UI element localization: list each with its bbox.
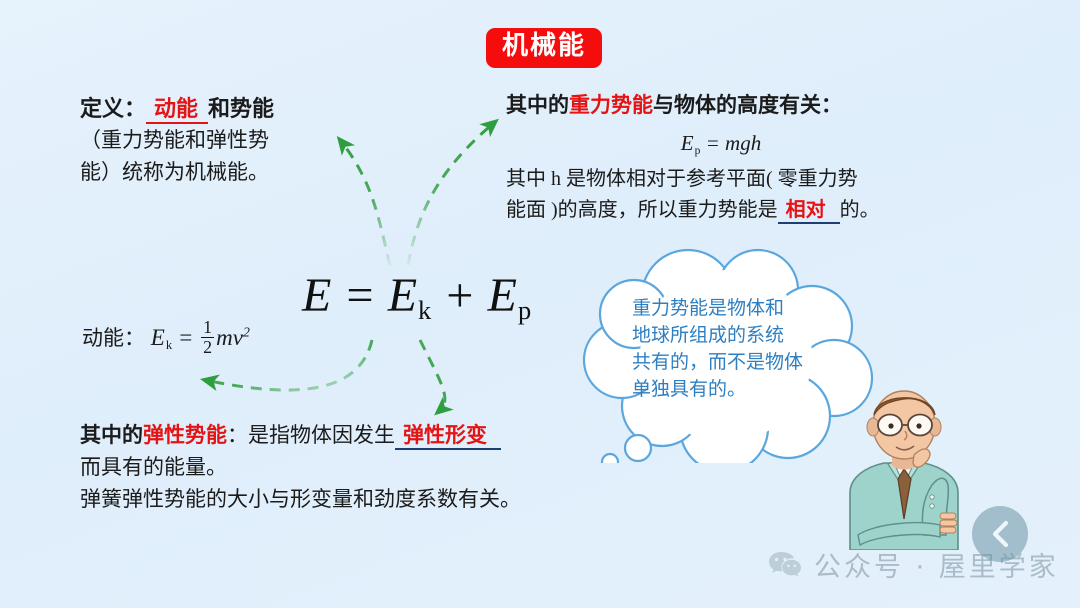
central-mechanical-energy-formula: E = Ek + Ep xyxy=(302,268,531,326)
kinetic-energy-block: 动能： Ek = 12mv2 xyxy=(82,318,250,357)
bubble-line2: 地球所组成的系统 xyxy=(632,323,847,350)
elastic-blank-answer: 弹性形变 xyxy=(395,423,501,450)
wechat-icon xyxy=(768,550,802,580)
bubble-line1: 重力势能是物体和 xyxy=(632,296,847,323)
bubble-line4: 单独具有的。 xyxy=(632,377,847,404)
slide-title-badge: 机械能 xyxy=(486,28,602,68)
gravity-line1: 其中 h 是物体相对于参考平面( 零重力势 xyxy=(506,164,936,194)
definition-line1-rest: 和势能 xyxy=(208,96,274,121)
back-button[interactable] xyxy=(972,506,1028,562)
gravity-head-post: 与物体的高度有关： xyxy=(653,93,842,117)
definition-block: 定义：动能和势能 （重力势能和弹性势 能）统称为机械能。 xyxy=(80,92,330,189)
elastic-line3: 弹簧弹性势能的大小与形变量和劲度系数有关。 xyxy=(80,484,610,516)
gravity-pe-formula: Ep = mgh xyxy=(506,128,936,160)
gravity-line2-pre: 能面 )的高度，所以重力势能是 xyxy=(506,199,778,221)
arrow-to-gravity xyxy=(408,122,495,265)
elastic-head-mid: ：是指物体因发生 xyxy=(227,423,395,447)
elastic-head-keyword: 弹性势能 xyxy=(143,423,227,447)
chevron-left-icon xyxy=(987,519,1013,549)
gravity-blank-answer: 相对 xyxy=(778,199,840,224)
arrow-to-definition xyxy=(340,140,390,265)
definition-blank-answer: 动能 xyxy=(146,96,208,124)
definition-line3: 能）统称为机械能。 xyxy=(80,157,330,189)
bubble-line3: 共有的，而不是物体 xyxy=(632,350,847,377)
thinking-person-illustration xyxy=(828,385,978,550)
speech-bubble-text: 重力势能是物体和 地球所组成的系统 共有的，而不是物体 单独具有的。 xyxy=(632,296,847,404)
definition-line2: （重力势能和弹性势 xyxy=(80,125,330,157)
kinetic-label: 动能： xyxy=(82,326,145,350)
arrow-to-elastic xyxy=(420,340,445,412)
definition-label: 定义： xyxy=(80,96,146,121)
elastic-pe-block: 其中的弹性势能：是指物体因发生弹性形变 而具有的能量。 弹簧弹性势能的大小与形变… xyxy=(80,420,610,516)
elastic-line2: 而具有的能量。 xyxy=(80,452,610,484)
gravity-head-keyword: 重力势能 xyxy=(569,93,653,117)
gravity-head-pre: 其中的 xyxy=(506,93,569,117)
slide-canvas: 机械能 定义：动能和势能 （重力势能和弹性势 能）统称为机械能。 其中的重力势能… xyxy=(0,0,1080,608)
kinetic-formula: Ek = 12mv2 xyxy=(145,325,250,350)
gravity-pe-block: 其中的重力势能与物体的高度有关： Ep = mgh 其中 h 是物体相对于参考平… xyxy=(506,90,936,225)
elastic-head-pre: 其中的 xyxy=(80,423,143,447)
gravity-line2-post: 的。 xyxy=(840,199,880,221)
